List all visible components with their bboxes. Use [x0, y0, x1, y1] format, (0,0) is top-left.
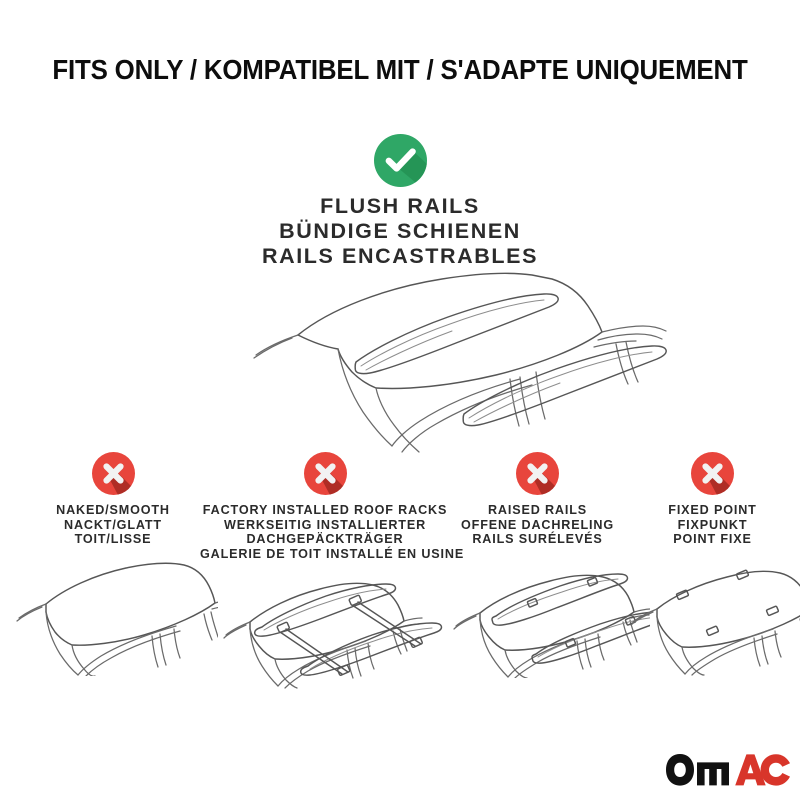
car-roof-raised-rails-illustration: [440, 556, 635, 678]
x-circle-icon: [691, 452, 734, 495]
factory-rack-label-fr: GALERIE DE TOIT INSTALLÉ EN USINE: [200, 547, 450, 562]
flush-rails-label-de: BÜNDIGE SCHIENEN: [0, 219, 800, 244]
x-icon-container-fixed: [625, 452, 800, 502]
x-icon-container-raised: [440, 452, 635, 502]
incompatible-section: NAKED/SMOOTH NACKT/GLATT TOIT/LISSE: [0, 452, 800, 692]
logo-letter-c: [761, 754, 790, 785]
check-circle-icon: [374, 134, 427, 187]
compatible-labels: FLUSH RAILS BÜNDIGE SCHIENEN RAILS ENCAS…: [0, 194, 800, 269]
incompatible-item-naked-smooth: NAKED/SMOOTH NACKT/GLATT TOIT/LISSE: [8, 452, 218, 547]
fixed-point-labels: FIXED POINT FIXPUNKT POINT FIXE: [625, 503, 800, 547]
x-circle-icon: [304, 452, 347, 495]
raised-rails-label-de: OFFENE DACHRELING: [440, 518, 635, 533]
factory-rack-label-de-1: WERKSEITIG INSTALLIERTER: [200, 518, 450, 533]
x-icon-container-naked: [8, 452, 218, 502]
raised-rails-label-en: RAISED RAILS: [440, 503, 635, 518]
car-roof-flush-rails-illustration: [180, 262, 800, 457]
naked-smooth-labels: NAKED/SMOOTH NACKT/GLATT TOIT/LISSE: [8, 503, 218, 547]
incompatible-item-fixed-point: FIXED POINT FIXPUNKT POINT FIXE: [625, 452, 800, 547]
page-title: FITS ONLY / KOMPATIBEL MIT / S'ADAPTE UN…: [24, 54, 776, 86]
factory-rack-label-en: FACTORY INSTALLED ROOF RACKS: [200, 503, 450, 518]
naked-smooth-label-de: NACKT/GLATT: [8, 518, 218, 533]
x-icon-container-factory: [200, 452, 450, 502]
compatible-section: FLUSH RAILS BÜNDIGE SCHIENEN RAILS ENCAS…: [0, 134, 800, 269]
naked-smooth-label-fr: TOIT/LISSE: [8, 532, 218, 547]
omac-logo: [663, 750, 793, 790]
factory-rack-label-de-2: DACHGEPÄCKTRÄGER: [200, 532, 450, 547]
logo-letter-m: [697, 762, 729, 785]
flush-rails-label-en: FLUSH RAILS: [0, 194, 800, 219]
incompatible-item-raised-rails: RAISED RAILS OFFENE DACHRELING RAILS SUR…: [440, 452, 635, 547]
fixed-point-label-de: FIXPUNKT: [625, 518, 800, 533]
car-roof-fixed-point-illustration: [625, 556, 800, 676]
fixed-point-label-en: FIXED POINT: [625, 503, 800, 518]
car-roof-factory-rack-illustration: [200, 564, 450, 689]
check-icon-container: [0, 134, 800, 192]
car-roof-naked-illustration: [8, 556, 218, 676]
fixed-point-label-fr: POINT FIXE: [625, 532, 800, 547]
x-circle-icon: [516, 452, 559, 495]
compatibility-infographic: FITS ONLY / KOMPATIBEL MIT / S'ADAPTE UN…: [0, 0, 800, 800]
factory-rack-labels: FACTORY INSTALLED ROOF RACKS WERKSEITIG …: [200, 503, 450, 561]
naked-smooth-label-en: NAKED/SMOOTH: [8, 503, 218, 518]
x-circle-icon: [92, 452, 135, 495]
logo-letter-o: [666, 754, 694, 786]
raised-rails-labels: RAISED RAILS OFFENE DACHRELING RAILS SUR…: [440, 503, 635, 547]
raised-rails-label-fr: RAILS SURÉLEVÉS: [440, 532, 635, 547]
incompatible-item-factory-rack: FACTORY INSTALLED ROOF RACKS WERKSEITIG …: [200, 452, 450, 561]
